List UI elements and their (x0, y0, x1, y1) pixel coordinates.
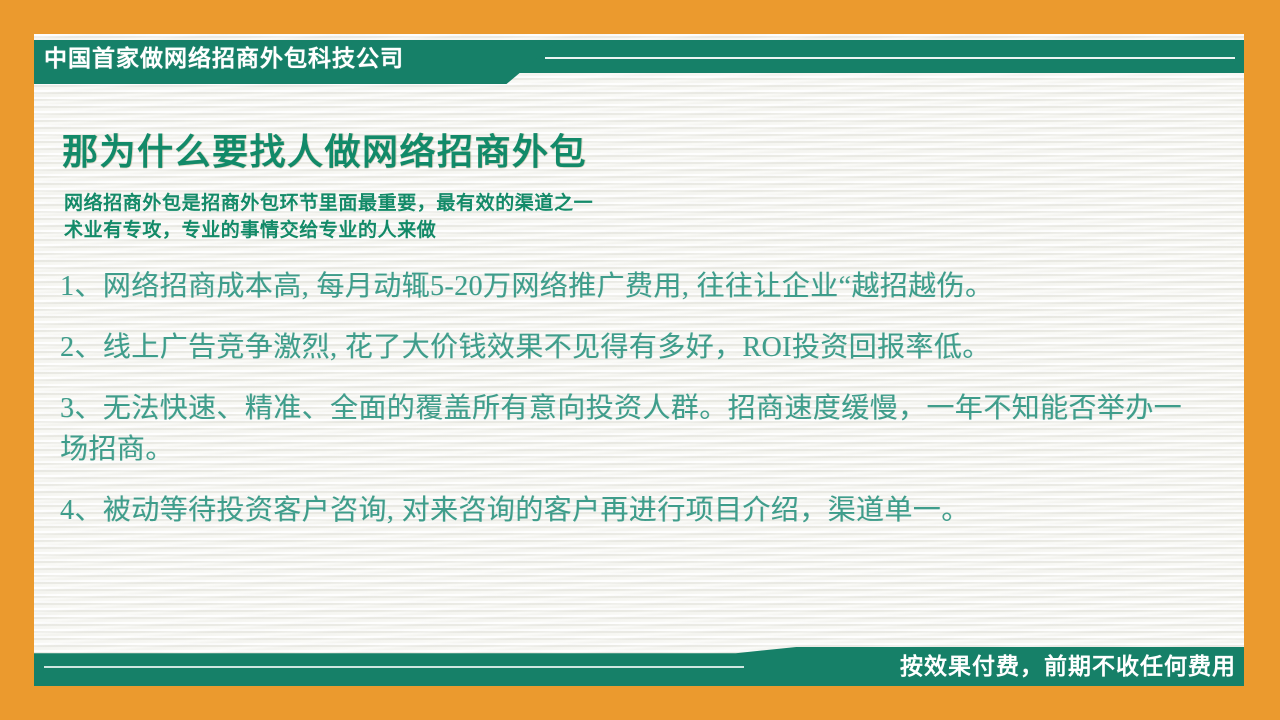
content-area: 那为什么要找人做网络招商外包 网络招商外包是招商外包环节里面最重要，最有效的渠道… (34, 100, 1244, 551)
bullet-list: 1、网络招商成本高, 每月动辄5-20万网络推广费用, 往往让企业“越招越伤。 … (34, 244, 1244, 531)
footer-label: 按效果付费，前期不收任何费用 (900, 651, 1236, 682)
page-title: 那为什么要找人做网络招商外包 (34, 100, 1244, 176)
header-tab-label: 中国首家做网络招商外包科技公司 (44, 44, 404, 73)
slide: 中国首家做网络招商外包科技公司 那为什么要找人做网络招商外包 网络招商外包是招商… (0, 0, 1280, 720)
footer-divider-line (44, 666, 744, 668)
subtitle-line-1: 网络招商外包是招商外包环节里面最重要，最有效的渠道之一 (64, 190, 1244, 217)
list-item: 3、无法快速、精准、全面的覆盖所有意向投资人群。招商速度缓慢，一年不知能否举办一… (60, 388, 1210, 470)
list-item: 2、线上广告竞争激烈, 花了大价钱效果不见得有多好，ROI投资回报率低。 (60, 327, 1210, 368)
header-divider-line (545, 57, 1235, 59)
subtitle-line-2: 术业有专攻，专业的事情交给专业的人来做 (64, 217, 1244, 244)
list-item: 4、被动等待投资客户咨询, 对来咨询的客户再进行项目介绍，渠道单一。 (60, 490, 1210, 531)
subtitle-block: 网络招商外包是招商外包环节里面最重要，最有效的渠道之一 术业有专攻，专业的事情交… (34, 176, 1244, 244)
list-item: 1、网络招商成本高, 每月动辄5-20万网络推广费用, 往往让企业“越招越伤。 (60, 266, 1210, 307)
